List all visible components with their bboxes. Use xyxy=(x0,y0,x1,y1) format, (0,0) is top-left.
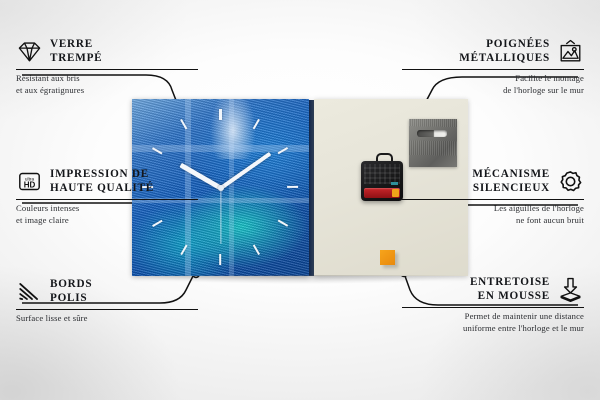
feature-header: BORDS POLIS xyxy=(16,278,198,306)
metal-hanger-plate xyxy=(409,119,457,167)
feature-title: ENTRETOISE EN MOUSSE xyxy=(470,276,550,304)
mechanism-label xyxy=(391,182,398,185)
feature-title: IMPRESSION DE HAUTE QUALITÉ xyxy=(50,168,154,196)
feature-subtitle-line2: ne font aucun bruit xyxy=(402,215,584,227)
svg-text:HD: HD xyxy=(24,181,36,190)
feature-divider xyxy=(402,69,584,70)
feature-subtitle-line1: Couleurs intenses xyxy=(16,203,198,215)
battery-plus-terminal xyxy=(392,189,399,197)
feature-verre-trempe: VERRE TREMPÉ Résistant aux bris et aux é… xyxy=(16,38,198,96)
clock-tick xyxy=(219,254,221,265)
diamond-icon xyxy=(16,38,43,65)
feature-divider xyxy=(16,69,198,70)
hanger-keyhole-slot xyxy=(417,130,447,137)
feature-bords-polis: BORDS POLIS Surface lisse et sûre xyxy=(16,278,198,325)
gear-icon xyxy=(557,168,584,195)
feature-title: BORDS POLIS xyxy=(50,278,92,306)
feature-title: MÉCANISME SILENCIEUX xyxy=(472,168,550,196)
clock-mechanism-box xyxy=(361,161,403,201)
feature-subtitle-line2: et aux égratignures xyxy=(16,85,198,97)
feature-header: ENTRETOISE EN MOUSSE xyxy=(402,276,584,304)
picture-frame-hanger-icon xyxy=(557,38,584,65)
battery xyxy=(364,188,400,198)
ultra-hd-badge-icon: ultra HD xyxy=(16,168,43,195)
feature-subtitle-line1: Les aiguilles de l'horloge xyxy=(402,203,584,215)
polished-edge-lines-icon xyxy=(16,278,43,305)
clock-tick xyxy=(278,220,289,227)
clock-center-cap xyxy=(218,185,224,191)
pattern-bar xyxy=(229,99,234,276)
foam-spacer-arrow-icon xyxy=(557,276,584,303)
infographic-canvas: VERRE TREMPÉ Résistant aux bris et aux é… xyxy=(0,0,600,400)
feature-divider xyxy=(402,307,584,308)
clock-second-hand xyxy=(220,188,221,244)
feature-divider xyxy=(402,199,584,200)
feature-subtitle-line2: uniforme entre l'horloge et le mur xyxy=(402,323,584,335)
feature-header: VERRE TREMPÉ xyxy=(16,38,198,66)
feature-title: POIGNÉES MÉTALLIQUES xyxy=(459,38,550,66)
feature-header: POIGNÉES MÉTALLIQUES xyxy=(402,38,584,66)
mechanism-vents xyxy=(364,164,400,184)
foam-spacer xyxy=(380,250,395,265)
feature-subtitle-line2: et image claire xyxy=(16,215,198,227)
feature-subtitle-line1: Surface lisse et sûre xyxy=(16,313,198,325)
feature-entretoise-en-mousse: ENTRETOISE EN MOUSSE Permet de maintenir… xyxy=(402,276,584,334)
feature-divider xyxy=(16,309,198,310)
feature-subtitle-line1: Permet de maintenir une distance xyxy=(402,311,584,323)
clock-tick xyxy=(287,186,298,188)
feature-header: ultra HD IMPRESSION DE HAUTE QUALITÉ xyxy=(16,168,198,196)
feature-header: MÉCANISME SILENCIEUX xyxy=(402,168,584,196)
feature-subtitle-line1: Résistant aux bris xyxy=(16,73,198,85)
feature-impression-haute-qualite: ultra HD IMPRESSION DE HAUTE QUALITÉ Cou… xyxy=(16,168,198,226)
feature-mecanisme-silencieux: MÉCANISME SILENCIEUX Les aiguilles de l'… xyxy=(402,168,584,226)
feature-subtitle-line2: de l'horloge sur le mur xyxy=(402,85,584,97)
clock-tick xyxy=(219,109,221,120)
clock-tick xyxy=(253,244,260,255)
feature-divider xyxy=(16,199,198,200)
feature-subtitle-line1: Facilite le montage xyxy=(402,73,584,85)
feature-poignees-metalliques: POIGNÉES MÉTALLIQUES Facilite le montage… xyxy=(402,38,584,96)
feature-title: VERRE TREMPÉ xyxy=(50,38,102,66)
